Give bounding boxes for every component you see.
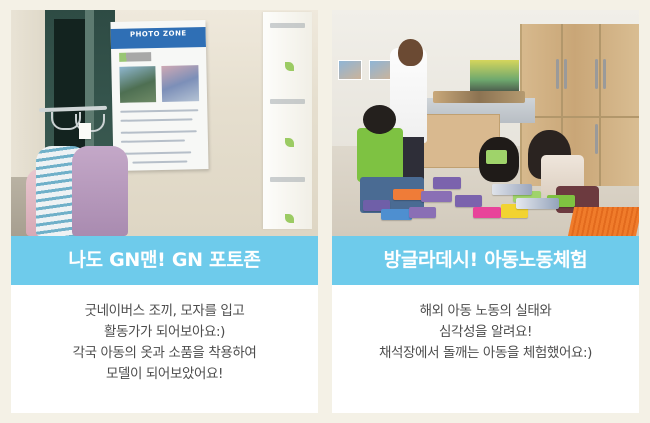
poster-photo-right	[162, 65, 199, 102]
wall-banner-strip	[263, 12, 312, 229]
garment-purple	[72, 146, 127, 236]
banner-text-line	[270, 99, 305, 104]
description-line: 채석장에서 돌깨는 아동을 체험했어요:)	[338, 343, 633, 364]
cabinet-handle	[595, 124, 598, 154]
boy-green-vest	[357, 128, 403, 182]
adult-facilitator-head	[398, 39, 423, 66]
description-line: 심각성을 알려요!	[338, 322, 633, 343]
poster-text-line	[121, 152, 191, 155]
desk-items	[433, 91, 525, 102]
card-title: 나도 GN맨! GN 포토존	[68, 251, 260, 270]
description-line: 굿네이버스 조끼, 모자를 입고	[17, 301, 312, 322]
poster-text-line	[121, 140, 186, 143]
poster-photo-left	[119, 66, 156, 103]
leaf-icon	[285, 62, 294, 71]
banner-text-line	[270, 23, 305, 28]
cabinet-divider	[599, 24, 601, 187]
description-line: 모델이 되어보았어요!	[17, 364, 312, 385]
leaf-icon	[285, 214, 294, 223]
poster-banner: PHOTO ZONE	[111, 28, 207, 49]
photo-image-photo-zone: PHOTO ZONE	[11, 10, 318, 236]
cabinet-handle	[564, 59, 567, 89]
card-caption-bar: 나도 GN맨! GN 포토존	[11, 236, 318, 285]
booklet	[492, 184, 532, 195]
poster-text-line	[120, 110, 198, 114]
foam-brick	[393, 189, 424, 200]
photo-zone-poster: PHOTO ZONE	[111, 20, 209, 171]
banner-text-line	[270, 177, 305, 182]
foam-brick	[409, 207, 437, 218]
photo-image-child-labour	[332, 10, 639, 236]
foam-brick	[455, 195, 483, 206]
photo-caption-gallery: PHOTO ZONE	[0, 0, 650, 423]
cabinet-handle	[556, 59, 559, 89]
description-line: 해외 아동 노동의 실태와	[338, 301, 633, 322]
poster-text-line	[121, 131, 197, 135]
card-description: 해외 아동 노동의 실태와 심각성을 알려요! 채석장에서 돌깨는 아동을 체험…	[332, 285, 639, 413]
cabinet-divider	[522, 116, 639, 118]
card-caption-bar: 방글라데시! 아동노동체험	[332, 236, 639, 285]
foam-brick	[473, 207, 501, 218]
orange-floor-mat	[568, 207, 639, 236]
gallery-card-child-labour[interactable]: 방글라데시! 아동노동체험 해외 아동 노동의 실태와 심각성을 알려요! 채석…	[332, 10, 639, 413]
leaf-icon	[285, 138, 294, 147]
poster-text-line	[120, 119, 192, 123]
foam-brick	[433, 177, 461, 188]
booklet	[516, 198, 559, 209]
wall-picture	[338, 60, 362, 80]
cabinet-handle	[603, 59, 606, 89]
description-line: 각국 아동의 옷과 소품을 착용하여	[17, 343, 312, 364]
description-line: 활동가가 되어보아요:)	[17, 322, 312, 343]
wall-picture	[369, 60, 393, 80]
price-tag	[79, 123, 91, 139]
gallery-card-photo-zone[interactable]: PHOTO ZONE	[11, 10, 318, 413]
card-description: 굿네이버스 조끼, 모자를 입고 활동가가 되어보아요:) 각국 아동의 옷과 …	[11, 285, 318, 413]
foam-brick	[381, 209, 412, 220]
poster-text-line	[133, 161, 188, 164]
foam-brick	[486, 150, 507, 164]
cabinet-handle	[595, 59, 598, 89]
card-title: 방글라데시! 아동노동체험	[384, 251, 588, 270]
poster-logo	[119, 53, 152, 63]
foam-brick	[421, 191, 452, 202]
poster-banner-text: PHOTO ZONE	[111, 28, 206, 40]
